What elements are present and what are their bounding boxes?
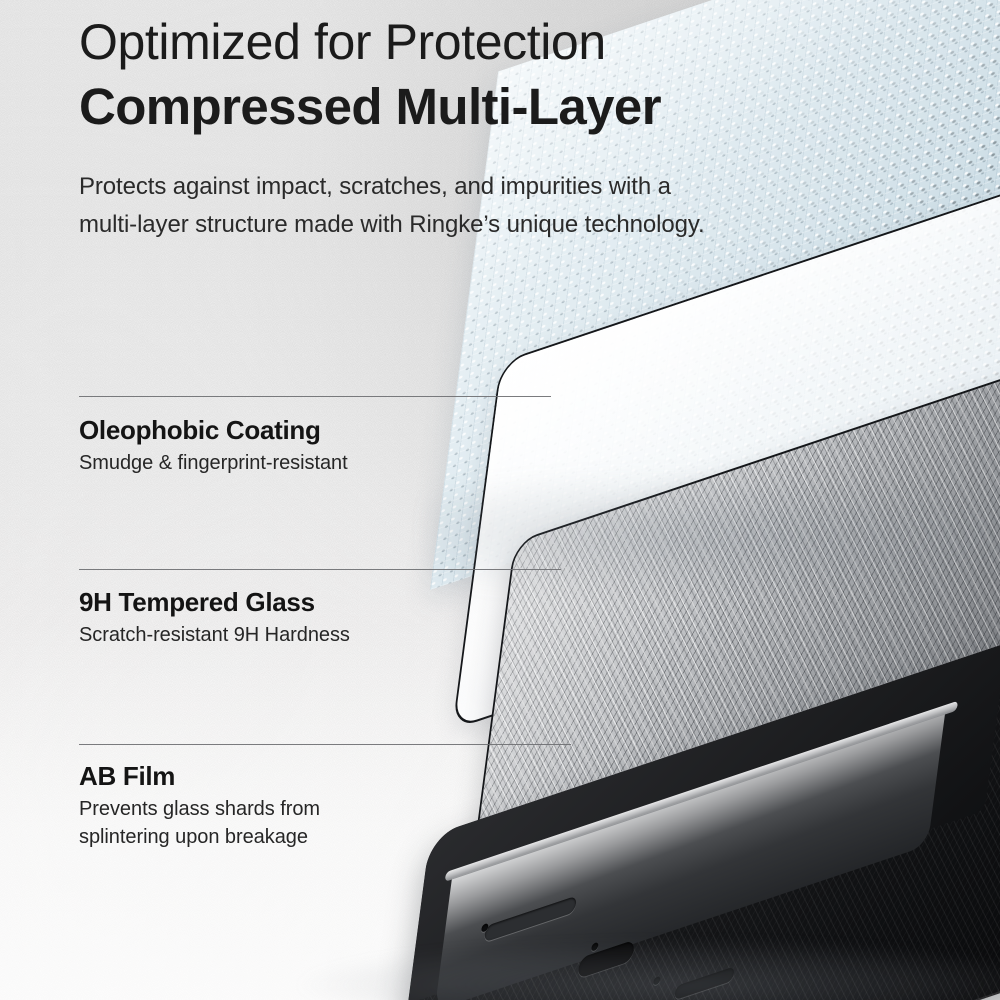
leader-line-tempered-glass: [79, 569, 561, 570]
leader-line-oleophobic-coating: [79, 396, 551, 397]
feature-description: Prevents glass shards from splintering u…: [79, 795, 320, 851]
feature-description-line-1: Scratch-resistant 9H Hardness: [79, 621, 350, 649]
feature-description-line-1: Prevents glass shards from: [79, 795, 320, 823]
intro-paragraph: Protects against impact, scratches, and …: [79, 168, 705, 244]
feature-description-line-1: Smudge & fingerprint-resistant: [79, 449, 348, 477]
feature-description-line-2: splintering upon breakage: [79, 823, 320, 851]
headline-secondary: Compressed Multi-Layer: [79, 76, 661, 138]
feature-description: Scratch-resistant 9H Hardness: [79, 621, 350, 649]
leader-line-ab-film: [79, 744, 571, 745]
feature-title: AB Film: [79, 760, 320, 792]
feature-tempered-glass: 9H Tempered Glass Scratch-resistant 9H H…: [79, 586, 350, 649]
coating-drop-shadow: [430, 470, 1000, 600]
product-infographic: Optimized for Protection Compressed Mult…: [0, 0, 1000, 1000]
intro-paragraph-line-1: Protects against impact, scratches, and …: [79, 168, 705, 206]
feature-ab-film: AB Film Prevents glass shards from splin…: [79, 760, 320, 851]
intro-paragraph-line-2: multi-layer structure made with Ringke’s…: [79, 206, 705, 244]
feature-title: 9H Tempered Glass: [79, 586, 350, 618]
headline-primary: Optimized for Protection: [79, 12, 606, 72]
feature-oleophobic-coating: Oleophobic Coating Smudge & fingerprint-…: [79, 414, 348, 477]
feature-title: Oleophobic Coating: [79, 414, 348, 446]
feature-description: Smudge & fingerprint-resistant: [79, 449, 348, 477]
phone-contact-shadow: [300, 940, 1000, 1000]
